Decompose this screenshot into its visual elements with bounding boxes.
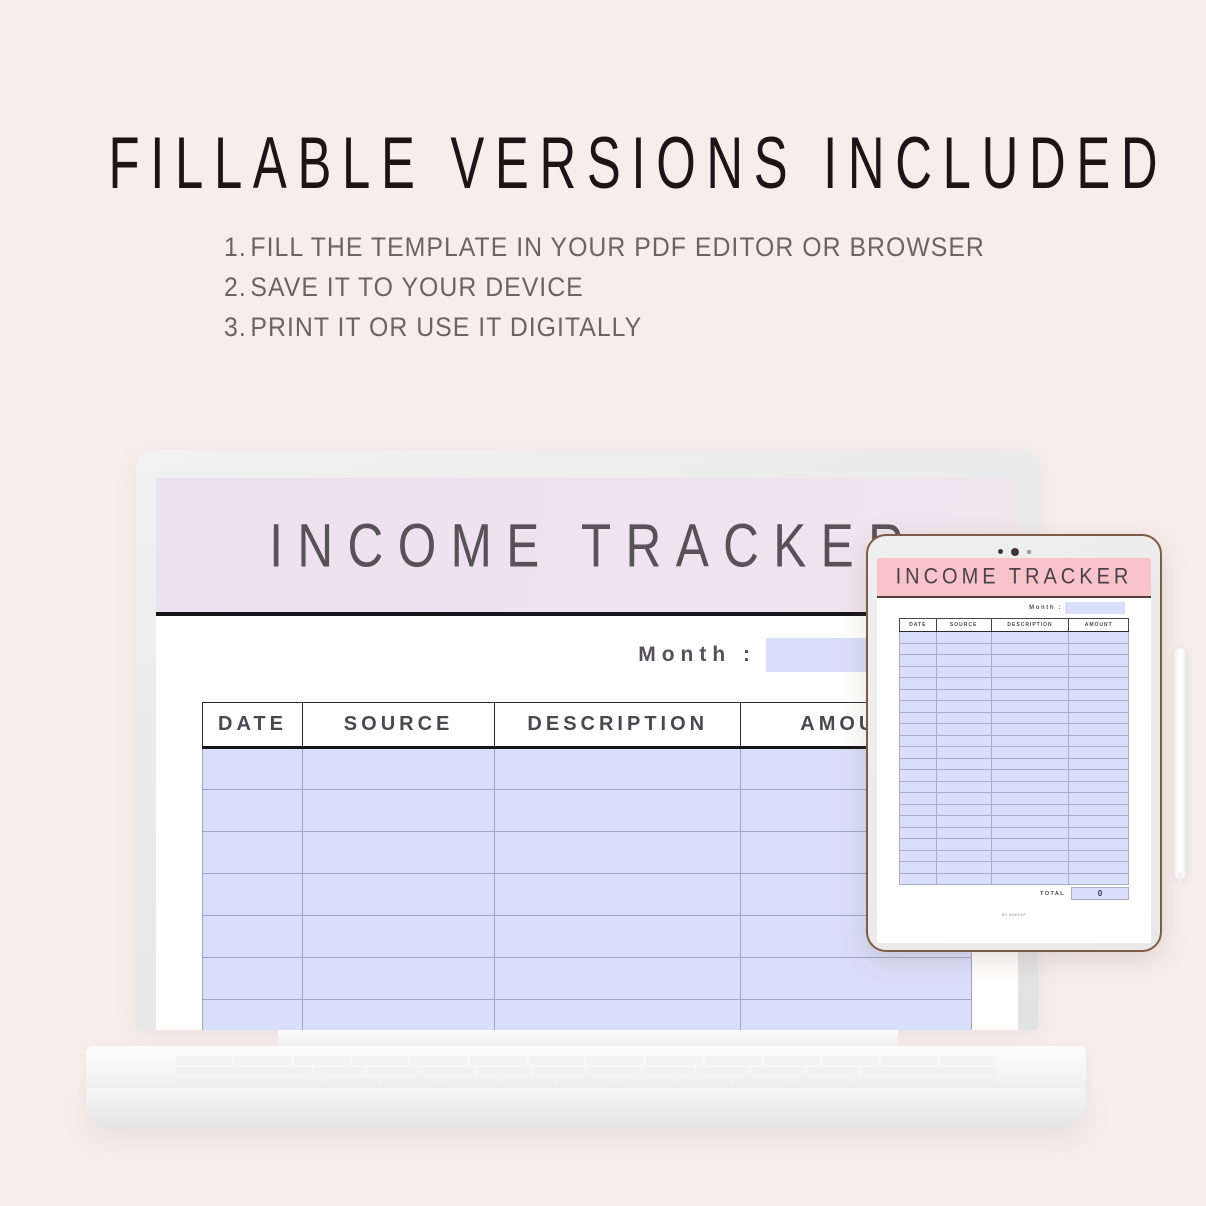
cell-amount[interactable] (1069, 850, 1129, 862)
cell-source[interactable] (936, 712, 991, 724)
cell-description[interactable] (991, 643, 1069, 655)
column-header-amount: AMOUNT (1069, 619, 1129, 632)
table-row[interactable] (900, 781, 1129, 793)
cell-source[interactable] (936, 758, 991, 770)
table-row[interactable] (203, 832, 972, 874)
cell-source[interactable] (936, 770, 991, 782)
table-header-row: DATE SOURCE DESCRIPTION AMOUNT (900, 619, 1129, 632)
table-row[interactable] (203, 916, 972, 958)
tablet-document-title: INCOME TRACKER (896, 564, 1133, 589)
tablet-income-table: DATE SOURCE DESCRIPTION AMOUNT (899, 618, 1129, 885)
cell-source[interactable] (936, 666, 991, 678)
cell-description[interactable] (991, 632, 1069, 644)
cell-description[interactable] (495, 832, 741, 874)
table-row[interactable] (900, 712, 1129, 724)
column-header-source: SOURCE (302, 703, 494, 748)
table-row[interactable] (203, 958, 972, 1000)
cell-amount[interactable] (1069, 862, 1129, 874)
camera-lens-icon (1011, 548, 1019, 556)
cell-date[interactable] (900, 850, 937, 862)
cell-date[interactable] (900, 804, 937, 816)
cell-amount[interactable] (1069, 770, 1129, 782)
step-text: PRINT IT OR USE IT DIGITALLY (250, 314, 642, 341)
cell-source[interactable] (936, 839, 991, 851)
cell-date[interactable] (900, 816, 937, 828)
cell-source[interactable] (936, 804, 991, 816)
keyboard-row (176, 1077, 996, 1086)
cell-source[interactable] (936, 724, 991, 736)
tablet-total-label: TOTAL (1040, 891, 1065, 897)
table-row[interactable] (203, 790, 972, 832)
cell-description[interactable] (991, 770, 1069, 782)
table-row[interactable] (900, 724, 1129, 736)
cell-source[interactable] (936, 862, 991, 874)
cell-description[interactable] (495, 790, 741, 832)
cell-description[interactable] (991, 666, 1069, 678)
cell-description[interactable] (991, 747, 1069, 759)
cell-amount[interactable] (1069, 758, 1129, 770)
column-header-date: DATE (203, 703, 303, 748)
cell-source[interactable] (936, 873, 991, 885)
cell-amount[interactable] (1069, 804, 1129, 816)
cell-date[interactable] (900, 678, 937, 690)
cell-source[interactable] (302, 790, 494, 832)
cell-description[interactable] (495, 874, 741, 916)
laptop-table-body (203, 748, 972, 1031)
column-header-source: SOURCE (936, 619, 991, 632)
table-row[interactable] (900, 804, 1129, 816)
cell-source[interactable] (302, 916, 494, 958)
cell-date[interactable] (900, 735, 937, 747)
cell-source[interactable] (936, 643, 991, 655)
cell-amount[interactable] (1069, 689, 1129, 701)
cell-source[interactable] (936, 701, 991, 713)
tablet-month-label: Month : (1029, 605, 1062, 611)
tablet-camera-array (877, 545, 1151, 558)
cell-description[interactable] (991, 793, 1069, 805)
tablet-mockup: INCOME TRACKER Month : DATE SOURCE DESCR… (866, 534, 1162, 952)
cell-amount[interactable] (1069, 781, 1129, 793)
table-row[interactable] (900, 678, 1129, 690)
cell-date[interactable] (203, 832, 303, 874)
cell-date[interactable] (900, 781, 937, 793)
cell-description[interactable] (991, 655, 1069, 667)
table-row[interactable] (900, 643, 1129, 655)
cell-description[interactable] (495, 1000, 741, 1031)
cell-date[interactable] (900, 666, 937, 678)
cell-source[interactable] (302, 832, 494, 874)
column-header-date: DATE (900, 619, 937, 632)
cell-description[interactable] (991, 724, 1069, 736)
cell-amount[interactable] (1069, 724, 1129, 736)
cell-description[interactable] (991, 804, 1069, 816)
tablet-footer-credit: BY MAKEAF (877, 913, 1151, 917)
table-row[interactable] (900, 827, 1129, 839)
cell-source[interactable] (936, 735, 991, 747)
tablet-table-body (900, 632, 1129, 885)
table-row[interactable] (900, 735, 1129, 747)
cell-source[interactable] (302, 958, 494, 1000)
cell-description[interactable] (495, 958, 741, 1000)
laptop-month-label: Month : (638, 643, 756, 667)
cell-description[interactable] (495, 916, 741, 958)
list-item: 1. FILL THE TEMPLATE IN YOUR PDF EDITOR … (224, 234, 1052, 261)
cell-description[interactable] (991, 827, 1069, 839)
table-row[interactable] (203, 874, 972, 916)
cell-source[interactable] (936, 632, 991, 644)
table-row[interactable] (203, 748, 972, 790)
cell-description[interactable] (991, 781, 1069, 793)
step-number: 2. (224, 274, 247, 301)
column-header-description: DESCRIPTION (495, 703, 741, 748)
tablet-month-input[interactable] (1065, 602, 1125, 614)
cell-date[interactable] (203, 1000, 303, 1031)
cell-date[interactable] (203, 874, 303, 916)
cell-date[interactable] (900, 839, 937, 851)
cell-amount[interactable] (1069, 735, 1129, 747)
cell-date[interactable] (900, 873, 937, 885)
table-row[interactable] (900, 666, 1129, 678)
cell-description[interactable] (991, 701, 1069, 713)
table-row[interactable] (203, 1000, 972, 1031)
cell-amount[interactable] (1069, 712, 1129, 724)
cell-date[interactable] (900, 632, 937, 644)
cell-date[interactable] (900, 655, 937, 667)
cell-source[interactable] (936, 850, 991, 862)
cell-source[interactable] (936, 747, 991, 759)
table-row[interactable] (900, 770, 1129, 782)
table-header-row: DATE SOURCE DESCRIPTION AMOUNT (203, 703, 972, 748)
cell-amount[interactable] (1069, 839, 1129, 851)
table-row[interactable] (900, 747, 1129, 759)
step-number: 1. (224, 234, 247, 261)
column-header-description: DESCRIPTION (991, 619, 1069, 632)
table-row[interactable] (900, 758, 1129, 770)
stylus-tip-icon (1177, 872, 1183, 888)
laptop-income-table: DATE SOURCE DESCRIPTION AMOUNT (202, 702, 972, 1030)
cell-description[interactable] (991, 839, 1069, 851)
table-row[interactable] (900, 701, 1129, 713)
cell-date[interactable] (203, 958, 303, 1000)
cell-description[interactable] (495, 748, 741, 790)
cell-description[interactable] (991, 862, 1069, 874)
table-row[interactable] (900, 873, 1129, 885)
cell-amount[interactable] (1069, 643, 1129, 655)
keyboard-row (176, 1056, 996, 1065)
cell-source[interactable] (936, 793, 991, 805)
cell-amount[interactable] (741, 1000, 972, 1031)
cell-amount[interactable] (1069, 873, 1129, 885)
cell-description[interactable] (991, 689, 1069, 701)
step-text: SAVE IT TO YOUR DEVICE (250, 274, 583, 301)
stylus-pen[interactable] (1174, 648, 1187, 878)
cell-description[interactable] (991, 678, 1069, 690)
cell-source[interactable] (936, 827, 991, 839)
table-row[interactable] (900, 816, 1129, 828)
tablet-total-row: TOTAL 0 (899, 887, 1129, 900)
cell-source[interactable] (936, 655, 991, 667)
cell-description[interactable] (991, 873, 1069, 885)
cell-amount[interactable] (741, 958, 972, 1000)
page-title: FILLABLE VERSIONS INCLUDED (109, 122, 1098, 206)
cell-source[interactable] (936, 689, 991, 701)
cell-source[interactable] (302, 748, 494, 790)
step-text: FILL THE TEMPLATE IN YOUR PDF EDITOR OR … (250, 234, 984, 261)
cell-date[interactable] (203, 790, 303, 832)
cell-amount[interactable] (1069, 827, 1129, 839)
cell-amount[interactable] (1069, 678, 1129, 690)
cell-amount[interactable] (1069, 701, 1129, 713)
cell-date[interactable] (900, 770, 937, 782)
cell-date[interactable] (203, 916, 303, 958)
cell-description[interactable] (991, 850, 1069, 862)
cell-date[interactable] (900, 712, 937, 724)
table-row[interactable] (900, 632, 1129, 644)
camera-dot-icon (998, 549, 1003, 554)
keyboard-row (176, 1067, 996, 1076)
cell-source[interactable] (936, 678, 991, 690)
cell-description[interactable] (991, 816, 1069, 828)
cell-date[interactable] (203, 748, 303, 790)
cell-amount[interactable] (1069, 816, 1129, 828)
cell-date[interactable] (900, 724, 937, 736)
cell-date[interactable] (900, 862, 937, 874)
table-row[interactable] (900, 655, 1129, 667)
tablet-screen: INCOME TRACKER Month : DATE SOURCE DESCR… (877, 558, 1151, 943)
cell-amount[interactable] (1069, 632, 1129, 644)
cell-date[interactable] (900, 701, 937, 713)
cell-date[interactable] (900, 827, 937, 839)
cell-description[interactable] (991, 758, 1069, 770)
cell-description[interactable] (991, 712, 1069, 724)
tablet-document-header: INCOME TRACKER (877, 558, 1151, 598)
cell-amount[interactable] (1069, 666, 1129, 678)
laptop-foot (86, 1088, 1086, 1128)
cell-amount[interactable] (1069, 793, 1129, 805)
cell-date[interactable] (900, 793, 937, 805)
cell-amount[interactable] (1069, 747, 1129, 759)
cell-source[interactable] (936, 781, 991, 793)
table-row[interactable] (900, 862, 1129, 874)
cell-date[interactable] (900, 747, 937, 759)
cell-description[interactable] (991, 735, 1069, 747)
table-row[interactable] (900, 839, 1129, 851)
tablet-total-value[interactable]: 0 (1071, 887, 1129, 900)
cell-date[interactable] (900, 758, 937, 770)
cell-source[interactable] (302, 1000, 494, 1031)
sensor-dot-icon (1027, 550, 1031, 554)
cell-source[interactable] (936, 816, 991, 828)
table-row[interactable] (900, 850, 1129, 862)
instruction-steps-list: 1. FILL THE TEMPLATE IN YOUR PDF EDITOR … (224, 234, 1124, 354)
tablet-month-row: Month : (877, 598, 1151, 618)
step-number: 3. (224, 314, 247, 341)
table-row[interactable] (900, 793, 1129, 805)
cell-date[interactable] (900, 643, 937, 655)
cell-source[interactable] (302, 874, 494, 916)
cell-amount[interactable] (1069, 655, 1129, 667)
cell-date[interactable] (900, 689, 937, 701)
list-item: 2. SAVE IT TO YOUR DEVICE (224, 274, 1052, 301)
laptop-document-title: INCOME TRACKER (255, 509, 918, 581)
table-row[interactable] (900, 689, 1129, 701)
list-item: 3. PRINT IT OR USE IT DIGITALLY (224, 314, 1052, 341)
